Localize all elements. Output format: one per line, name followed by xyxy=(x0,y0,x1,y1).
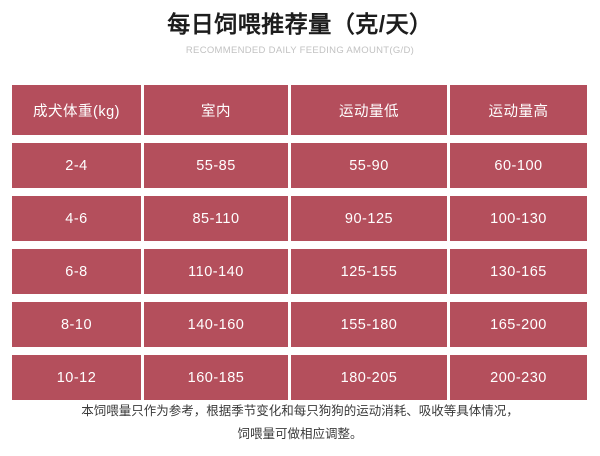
cell-indoor: 160-185 xyxy=(144,355,291,400)
table-row: 10-12 160-185 180-205 200-230 xyxy=(12,355,587,400)
heading-block: 每日饲喂推荐量（克/天） RECOMMENDED DAILY FEEDING A… xyxy=(0,0,600,57)
table-header-row: 成犬体重(kg) 室内 运动量低 运动量高 xyxy=(12,85,587,135)
cell-high-activity: 60-100 xyxy=(450,143,587,188)
column-header-low-activity: 运动量低 xyxy=(291,85,450,135)
cell-high-activity: 165-200 xyxy=(450,302,587,347)
cell-indoor: 110-140 xyxy=(144,249,291,294)
cell-low-activity: 155-180 xyxy=(291,302,450,347)
cell-weight: 6-8 xyxy=(12,249,144,294)
cell-indoor: 85-110 xyxy=(144,196,291,241)
cell-low-activity: 90-125 xyxy=(291,196,450,241)
feeding-chart-page: 每日饲喂推荐量（克/天） RECOMMENDED DAILY FEEDING A… xyxy=(0,0,600,456)
cell-low-activity: 55-90 xyxy=(291,143,450,188)
cell-low-activity: 125-155 xyxy=(291,249,450,294)
page-title: 每日饲喂推荐量（克/天） xyxy=(0,9,600,39)
table-row: 6-8 110-140 125-155 130-165 xyxy=(12,249,587,294)
table-row: 2-4 55-85 55-90 60-100 xyxy=(12,143,587,188)
table-row: 4-6 85-110 90-125 100-130 xyxy=(12,196,587,241)
column-header-high-activity: 运动量高 xyxy=(450,85,587,135)
cell-high-activity: 200-230 xyxy=(450,355,587,400)
footnote-line-1: 本饲喂量只作为参考，根据季节变化和每只狗狗的运动消耗、吸收等具体情况， xyxy=(0,400,600,423)
cell-weight: 2-4 xyxy=(12,143,144,188)
column-header-weight: 成犬体重(kg) xyxy=(12,85,144,135)
cell-weight: 4-6 xyxy=(12,196,144,241)
cell-low-activity: 180-205 xyxy=(291,355,450,400)
cell-weight: 8-10 xyxy=(12,302,144,347)
cell-indoor: 140-160 xyxy=(144,302,291,347)
footnote: 本饲喂量只作为参考，根据季节变化和每只狗狗的运动消耗、吸收等具体情况， 饲喂量可… xyxy=(0,400,600,446)
feeding-amount-table: 成犬体重(kg) 室内 运动量低 运动量高 2-4 55-85 55-90 60… xyxy=(12,85,587,400)
footnote-line-2: 饲喂量可做相应调整。 xyxy=(0,423,600,446)
cell-high-activity: 100-130 xyxy=(450,196,587,241)
column-header-indoor: 室内 xyxy=(144,85,291,135)
cell-weight: 10-12 xyxy=(12,355,144,400)
cell-indoor: 55-85 xyxy=(144,143,291,188)
table-row: 8-10 140-160 155-180 165-200 xyxy=(12,302,587,347)
cell-high-activity: 130-165 xyxy=(450,249,587,294)
page-subtitle: RECOMMENDED DAILY FEEDING AMOUNT(G/D) xyxy=(0,45,600,57)
